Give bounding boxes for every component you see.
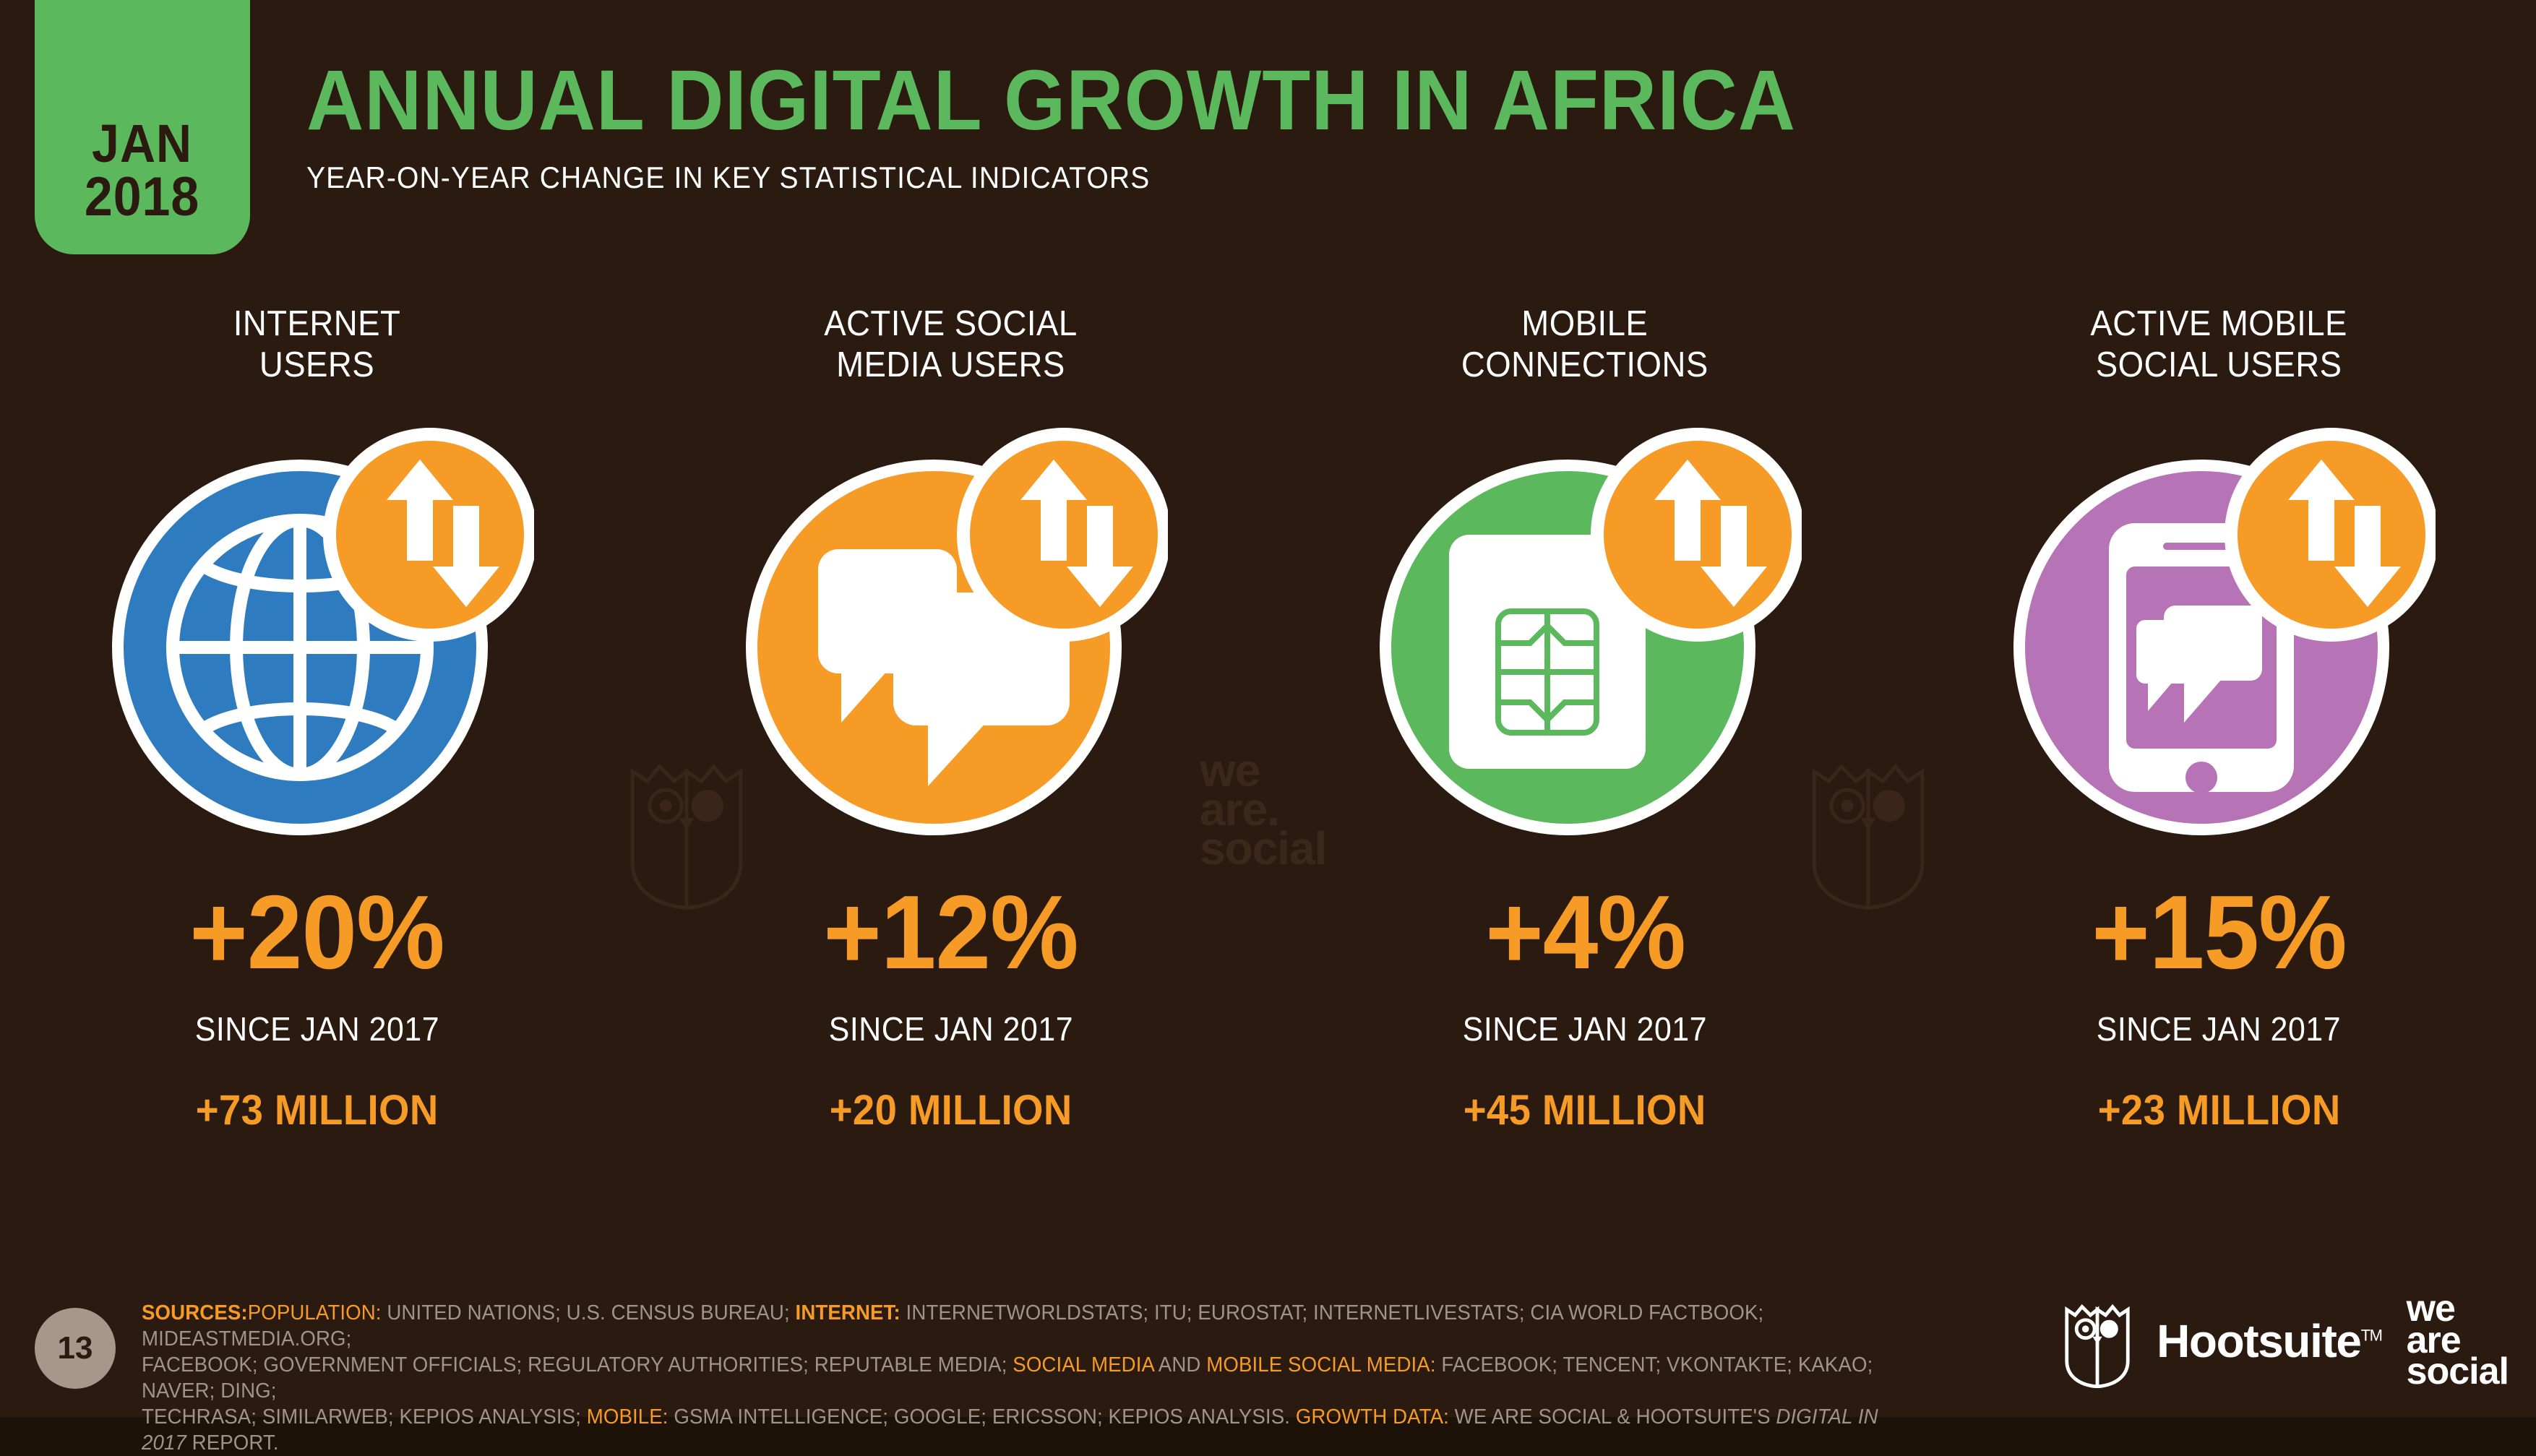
metric-delta: +73 MILLION	[196, 1086, 439, 1134]
metric-percent: +12%	[824, 880, 1078, 985]
sources-note: SOURCES:POPULATION: UNITED NATIONS; U.S.…	[142, 1301, 1894, 1456]
we-are-social-line3: social	[2407, 1356, 2509, 1388]
metric-delta: +20 MILLION	[830, 1086, 1073, 1134]
metric-icon-wrap	[734, 416, 1168, 850]
sim-card-icon	[1368, 416, 1802, 850]
metric-label-line2: USERS	[233, 345, 401, 386]
title-block: ANNUAL DIGITAL GROWTH IN AFRICA YEAR-ON-…	[306, 58, 1908, 195]
sources-key-mobile-social-media: MOBILE SOCIAL MEDIA:	[1206, 1353, 1435, 1377]
sources-text: REPORT.	[186, 1431, 279, 1455]
metric-icon-wrap	[2002, 416, 2436, 850]
sources-line-1: SOURCES:POPULATION: UNITED NATIONS; U.S.…	[142, 1301, 1894, 1353]
metric-label-line2: SOCIAL USERS	[2091, 345, 2348, 386]
metric-since: SINCE JAN 2017	[1463, 1009, 1707, 1048]
hootsuite-name: Hootsuite	[2157, 1315, 2361, 1367]
metric-label: ACTIVE SOCIAL MEDIA USERS	[825, 303, 1078, 386]
metric-icon-wrap	[100, 416, 534, 850]
we-are-social-logo: we are social	[2407, 1293, 2509, 1388]
metric-since: SINCE JAN 2017	[194, 1009, 439, 1048]
page-number-badge: 13	[35, 1308, 116, 1389]
globe-icon	[100, 416, 534, 850]
sources-key-population: POPULATION:	[248, 1301, 382, 1324]
date-badge-year: 2018	[85, 171, 199, 224]
sources-line-3: TECHRASA; SIMILARWEB; KEPIOS ANALYSIS; M…	[142, 1405, 1894, 1456]
mobile-chat-icon	[2002, 416, 2436, 850]
metric-label-line1: ACTIVE SOCIAL	[825, 303, 1078, 345]
sources-label: SOURCES:	[142, 1301, 248, 1324]
metric-label: INTERNET USERS	[233, 303, 401, 386]
sources-line-2: FACEBOOK; GOVERNMENT OFFICIALS; REGULATO…	[142, 1353, 1894, 1405]
metric-delta: +23 MILLION	[2097, 1086, 2340, 1134]
metric-percent: +20%	[189, 880, 444, 985]
metric-since: SINCE JAN 2017	[2097, 1009, 2341, 1048]
metric-since: SINCE JAN 2017	[829, 1009, 1073, 1048]
hootsuite-owl-icon	[2063, 1294, 2132, 1388]
metric-label: MOBILE CONNECTIONS	[1461, 303, 1708, 386]
metric-label-line2: CONNECTIONS	[1461, 345, 1708, 386]
metric-delta: +45 MILLION	[1463, 1086, 1706, 1134]
page-title: ANNUAL DIGITAL GROWTH IN AFRICA	[306, 58, 1796, 143]
metric-label-line1: INTERNET	[233, 303, 401, 345]
metric-column-mobile-connections: MOBILE CONNECTIONS	[1268, 303, 1902, 1134]
date-badge-month: JAN	[93, 118, 193, 171]
metric-percent: +4%	[1485, 880, 1685, 985]
sources-text: AND	[1154, 1353, 1207, 1377]
metric-column-mobile-social-users: ACTIVE MOBILE SOCIAL USERS	[1902, 303, 2536, 1134]
metric-label-line2: MEDIA USERS	[825, 345, 1078, 386]
sources-key-internet: INTERNET:	[796, 1301, 901, 1324]
sources-text: FACEBOOK; GOVERNMENT OFFICIALS; REGULATO…	[142, 1353, 1013, 1377]
speech-bubbles-icon	[734, 416, 1168, 850]
metrics-row: INTERNET USERS	[0, 303, 2536, 1134]
metric-label-line1: ACTIVE MOBILE	[2091, 303, 2348, 345]
metric-icon-wrap	[1368, 416, 1802, 850]
metric-percent: +15%	[2092, 880, 2346, 985]
metric-label-line1: MOBILE	[1461, 303, 1708, 345]
sources-key-social-media: SOCIAL MEDIA	[1013, 1353, 1153, 1377]
hootsuite-wordmark: HootsuiteTM	[2157, 1314, 2381, 1368]
metric-column-social-media-users: ACTIVE SOCIAL MEDIA USERS	[634, 303, 1268, 1134]
brand-logos: HootsuiteTM we are social	[2063, 1293, 2509, 1388]
page-subtitle: YEAR-ON-YEAR CHANGE IN KEY STATISTICAL I…	[306, 160, 1796, 195]
metric-column-internet-users: INTERNET USERS	[0, 303, 634, 1134]
hootsuite-trademark: TM	[2361, 1326, 2382, 1344]
date-badge: JAN 2018	[35, 0, 250, 254]
metric-label: ACTIVE MOBILE SOCIAL USERS	[2091, 303, 2348, 386]
sources-text: UNITED NATIONS; U.S. CENSUS BUREAU;	[382, 1301, 796, 1324]
